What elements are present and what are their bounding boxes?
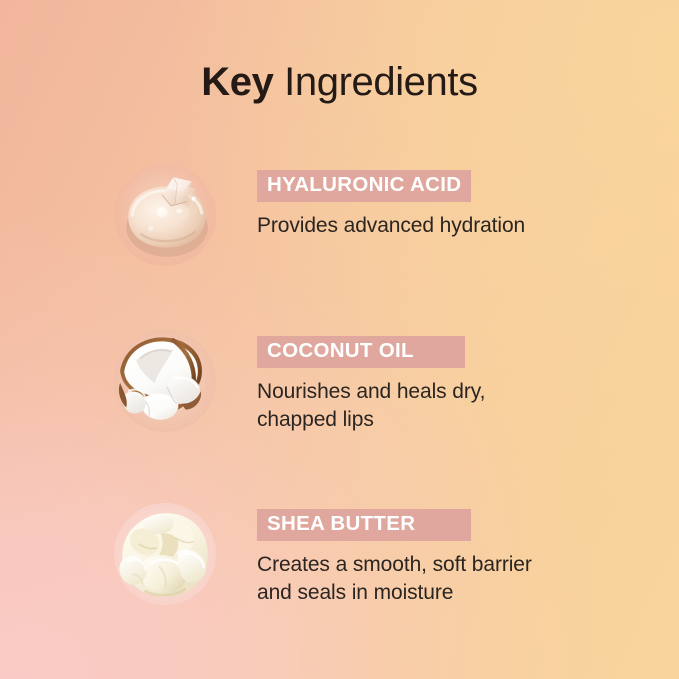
ingredient-text-column: COCONUT OIL Nourishes and heals dry, cha… [257,330,634,433]
ingredient-thumbnail-wrap [114,330,216,432]
page-title-regular-word: Ingredients [273,60,477,104]
ingredient-thumbnail-wrap [114,164,216,266]
ingredient-name-label: SHEA BUTTER [257,509,471,541]
ingredient-name-label: COCONUT OIL [257,336,465,368]
ingredient-description: Creates a smooth, soft barrier and seals… [257,551,634,606]
ingredient-name-label: HYALURONIC ACID [257,170,471,202]
key-ingredients-infographic: Key Ingredients [0,0,679,679]
ingredient-row: COCONUT OIL Nourishes and heals dry, cha… [114,330,634,433]
ingredient-description: Provides advanced hydration [257,212,634,240]
ingredient-text-column: HYALURONIC ACID Provides advanced hydrat… [257,164,634,240]
ingredient-row: HYALURONIC ACID Provides advanced hydrat… [114,164,634,266]
ingredient-description: Nourishes and heals dry, chapped lips [257,378,634,433]
ingredient-text-column: SHEA BUTTER Creates a smooth, soft barri… [257,503,634,606]
hyaluronic-acid-gel-droplet-photo [114,164,216,266]
page-title: Key Ingredients [0,60,679,105]
page-title-bold-word: Key [201,60,273,104]
ingredient-thumbnail-wrap [114,503,216,605]
ingredient-row: SHEA BUTTER Creates a smooth, soft barri… [114,503,634,606]
coconut-flesh-pieces-photo [114,330,216,432]
title-block: Key Ingredients [0,60,679,105]
shea-butter-chunks-photo [114,503,216,605]
